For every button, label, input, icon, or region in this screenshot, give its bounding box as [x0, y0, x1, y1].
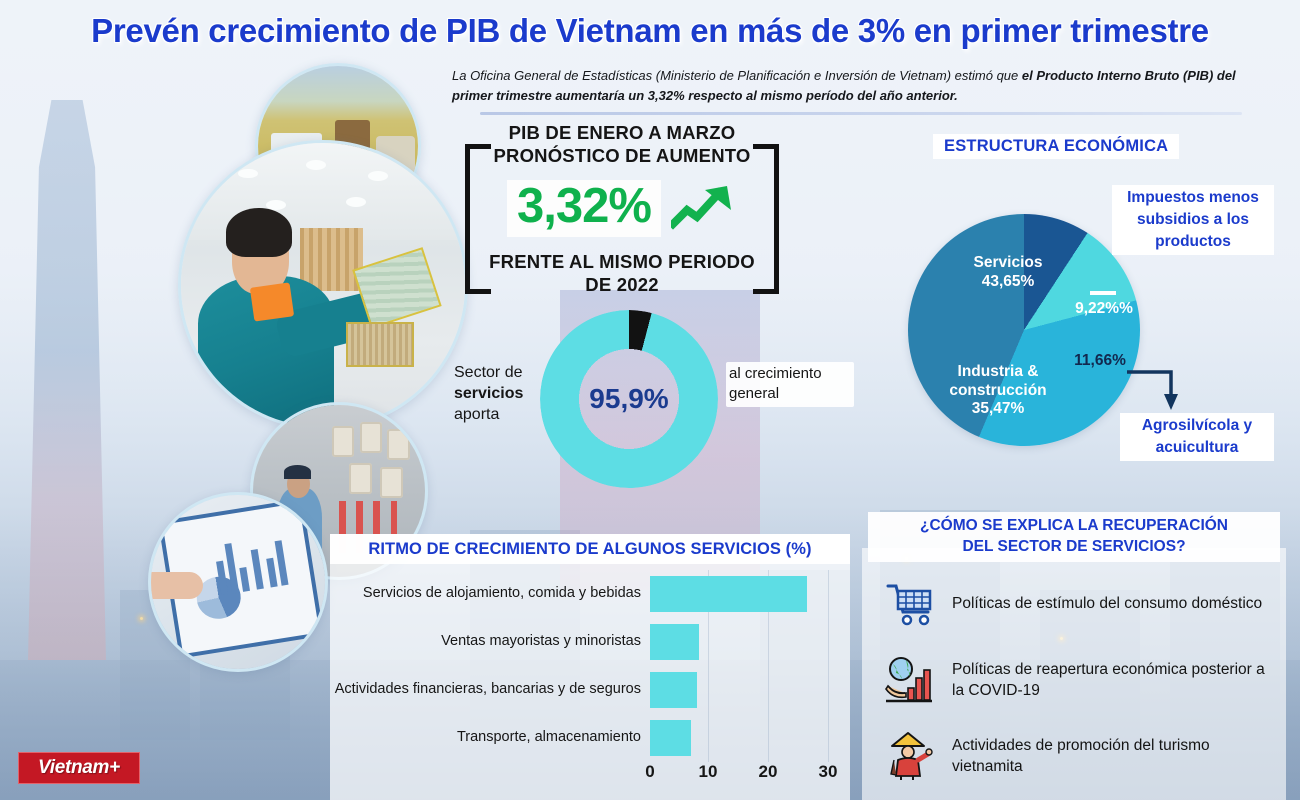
bar-chart-plot-area: Servicios de alojamiento, comida y bebid…: [330, 570, 850, 762]
bar-row: Transporte, almacenamiento: [330, 714, 850, 762]
globe-hand-bar-chart-icon: [884, 654, 936, 706]
donut-left-caption: Sector de servicios aporta: [454, 362, 538, 425]
bitexco-tower-silhouette: [28, 100, 106, 660]
donut-center-value: 95,9%: [540, 310, 718, 488]
gdp-value: 3,32%: [507, 180, 661, 237]
bracket-left-decoration: [465, 144, 491, 294]
callout-impuestos: Impuestos menos subsidios a los producto…: [1112, 185, 1274, 255]
explain-item: Políticas de reapertura económica poster…: [862, 642, 1286, 718]
bar-fill: [650, 720, 691, 756]
bracket-right-decoration: [753, 144, 779, 294]
bar-fill: [650, 624, 699, 660]
bar-row: Actividades financieras, bancarias y de …: [330, 666, 850, 714]
callout-agrosilvicola: Agrosilvícola y acuicultura: [1120, 413, 1274, 461]
gdp-footer-line1: FRENTE AL MISMO PERIODO: [472, 251, 772, 274]
services-growth-bar-chart-panel: RITMO DE CRECIMIENTO DE ALGUNOS SERVICIO…: [330, 534, 850, 800]
subtitle-normal-text: La Oficina General de Estadísticas (Mini…: [452, 68, 1022, 83]
donut-caption-line3: aporta: [454, 406, 499, 423]
gdp-value-row: 3,32%: [472, 172, 772, 244]
explain-title-line2: DEL SECTOR DE SERVICIOS?: [872, 537, 1276, 558]
gdp-footer: FRENTE AL MISMO PERIODO DE 2022: [472, 251, 772, 296]
explain-item-text: Políticas de estímulo del consumo domést…: [952, 593, 1262, 614]
trend-up-arrow-icon: [671, 184, 737, 232]
explain-item-text: Actividades de promoción del turismo vie…: [952, 735, 1272, 778]
services-contribution-donut-chart: 95,9% Sector de servicios aporta al crec…: [540, 310, 718, 488]
gdp-header-line2: PRONÓSTICO DE AUMENTO: [472, 145, 772, 168]
subtitle-paragraph: La Oficina General de Estadísticas (Mini…: [452, 66, 1242, 106]
logo-text: Vietnam+: [38, 757, 120, 779]
bar-label: Servicios de alojamiento, comida y bebid…: [330, 585, 650, 602]
bar-fill: [650, 672, 697, 708]
bar-row: Ventas mayoristas y minoristas: [330, 618, 850, 666]
pie-label-industria: Industria & construcción 35,47%: [936, 363, 1060, 419]
vietnamese-tourist-icon: [884, 730, 936, 782]
donut-caption-line1: Sector de: [454, 364, 522, 381]
explain-panel-title: ¿CÓMO SE EXPLICA LA RECUPERACIÓN DEL SEC…: [868, 512, 1280, 562]
vietnamplus-logo[interactable]: Vietnam+: [18, 752, 140, 784]
bar-label: Actividades financieras, bancarias y de …: [330, 681, 650, 698]
shopping-cart-icon: [884, 578, 936, 630]
pie-label-servicios: Servicios 43,65%: [948, 254, 1068, 291]
bar-label: Transporte, almacenamiento: [330, 729, 650, 746]
bar-row: Servicios de alojamiento, comida y bebid…: [330, 570, 850, 618]
x-tick: 0: [645, 762, 654, 782]
x-tick: 20: [759, 762, 778, 782]
bar-fill: [650, 576, 807, 612]
donut-caption-line2: servicios: [454, 383, 538, 404]
agro-callout-arrow-icon: [1125, 366, 1187, 412]
explain-item: Actividades de promoción del turismo vie…: [862, 718, 1286, 794]
bar-label: Ventas mayoristas y minoristas: [330, 633, 650, 650]
explain-title-line1: ¿CÓMO SE EXPLICA LA RECUPERACIÓN: [872, 516, 1276, 537]
pie-label-impuestos: 9,22%%: [1063, 300, 1145, 319]
x-tick: 10: [699, 762, 718, 782]
bar-chart-title: RITMO DE CRECIMIENTO DE ALGUNOS SERVICIO…: [330, 534, 850, 564]
gdp-header-line1: PIB DE ENERO A MARZO: [472, 122, 772, 145]
gdp-footer-line2: DE 2022: [472, 274, 772, 297]
services-recovery-explain-panel: ¿CÓMO SE EXPLICA LA RECUPERACIÓN DEL SEC…: [862, 548, 1286, 800]
bg-light: [140, 617, 143, 620]
gdp-highlight-block: PIB DE ENERO A MARZO PRONÓSTICO DE AUMEN…: [472, 122, 772, 312]
bar-chart-x-axis: 0 10 20 30: [650, 762, 850, 790]
x-tick: 30: [819, 762, 838, 782]
header-divider: [480, 112, 1242, 115]
bank-teller-photo: [178, 140, 468, 430]
gdp-header: PIB DE ENERO A MARZO PRONÓSTICO DE AUMEN…: [472, 122, 772, 167]
donut-right-caption: al crecimiento general: [726, 362, 854, 407]
explain-item-text: Políticas de reapertura económica poster…: [952, 659, 1272, 702]
tablet-charts-photo: [148, 492, 328, 672]
explain-item: Políticas de estímulo del consumo domést…: [862, 566, 1286, 642]
taxes-callout-leader-line: [1090, 291, 1116, 295]
economic-structure-header: ESTRUCTURA ECONÓMICA: [933, 134, 1179, 159]
page-title: Prevén crecimiento de PIB de Vietnam en …: [0, 12, 1300, 50]
